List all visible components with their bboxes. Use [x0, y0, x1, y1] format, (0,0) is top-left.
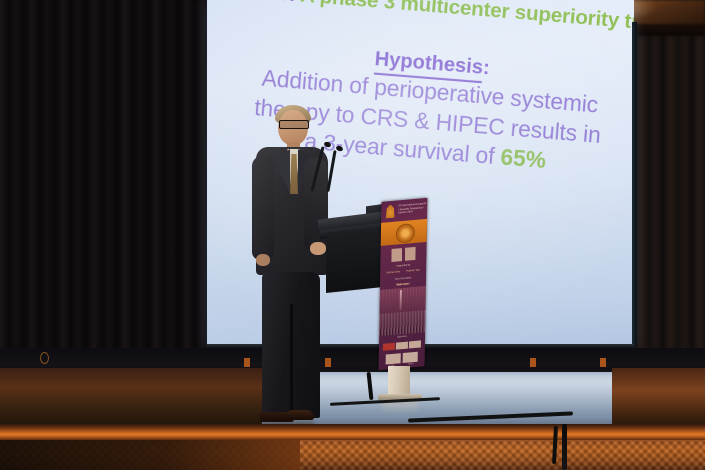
floor-marker-tape	[530, 358, 536, 367]
lectern-banner: XX International Congress / Scientific P…	[379, 198, 428, 370]
slide-title: CAIRO6: A phase 3 multicenter superiorit…	[209, 0, 634, 38]
slide-title-prefix: CAIRO6:	[211, 0, 296, 7]
stage-hook	[40, 352, 49, 364]
sponsor-logo	[403, 352, 418, 363]
screen-frame-right	[632, 22, 637, 347]
stage-front-panel-shadow	[0, 440, 300, 470]
sponsor-logo	[396, 341, 408, 349]
banner-partner-left: Partner One	[386, 270, 400, 274]
slide-survival-highlight: 65%	[500, 144, 547, 173]
slide-section-heading-colon: :	[482, 57, 490, 80]
presentation-photo: CAIRO6: A phase 3 multicenter superiorit…	[0, 0, 705, 470]
speaker-hand-left	[256, 254, 270, 266]
banner-tower-landmark	[400, 290, 402, 310]
sponsor-logo	[409, 340, 421, 348]
congress-logo-icon	[384, 204, 396, 219]
floor-marker-tape	[600, 358, 606, 367]
glasses-icon	[279, 120, 309, 129]
slide-title-rest: A phase 3 multicenter superiority trial	[295, 0, 634, 36]
banner-mid-label-2: Partner One Partner Two	[383, 268, 423, 275]
speaker-leg-separation	[290, 304, 293, 416]
stage-floor-left-wood	[0, 368, 262, 432]
stage-floor-right-wood	[612, 368, 705, 432]
speaker-shoe-right	[288, 410, 314, 420]
lectern: XX International Congress / Scientific P…	[318, 196, 440, 396]
stage-edge-lip	[0, 424, 705, 441]
lectern-cable	[367, 372, 374, 400]
banner-cityscape-photo	[379, 286, 426, 336]
sponsor-logo	[386, 353, 401, 364]
banner-sponsor-logos-row-1	[383, 339, 421, 350]
hanging-cable	[562, 424, 567, 470]
sponsor-logo	[383, 342, 395, 350]
banner-partner-right: Partner Two	[407, 269, 420, 273]
banner-header-text: XX International Congress / Scientific P…	[398, 202, 426, 215]
stage-curtain-left	[0, 0, 206, 372]
speaker-arm-left	[252, 156, 274, 260]
banner-card-graphics	[391, 247, 415, 262]
